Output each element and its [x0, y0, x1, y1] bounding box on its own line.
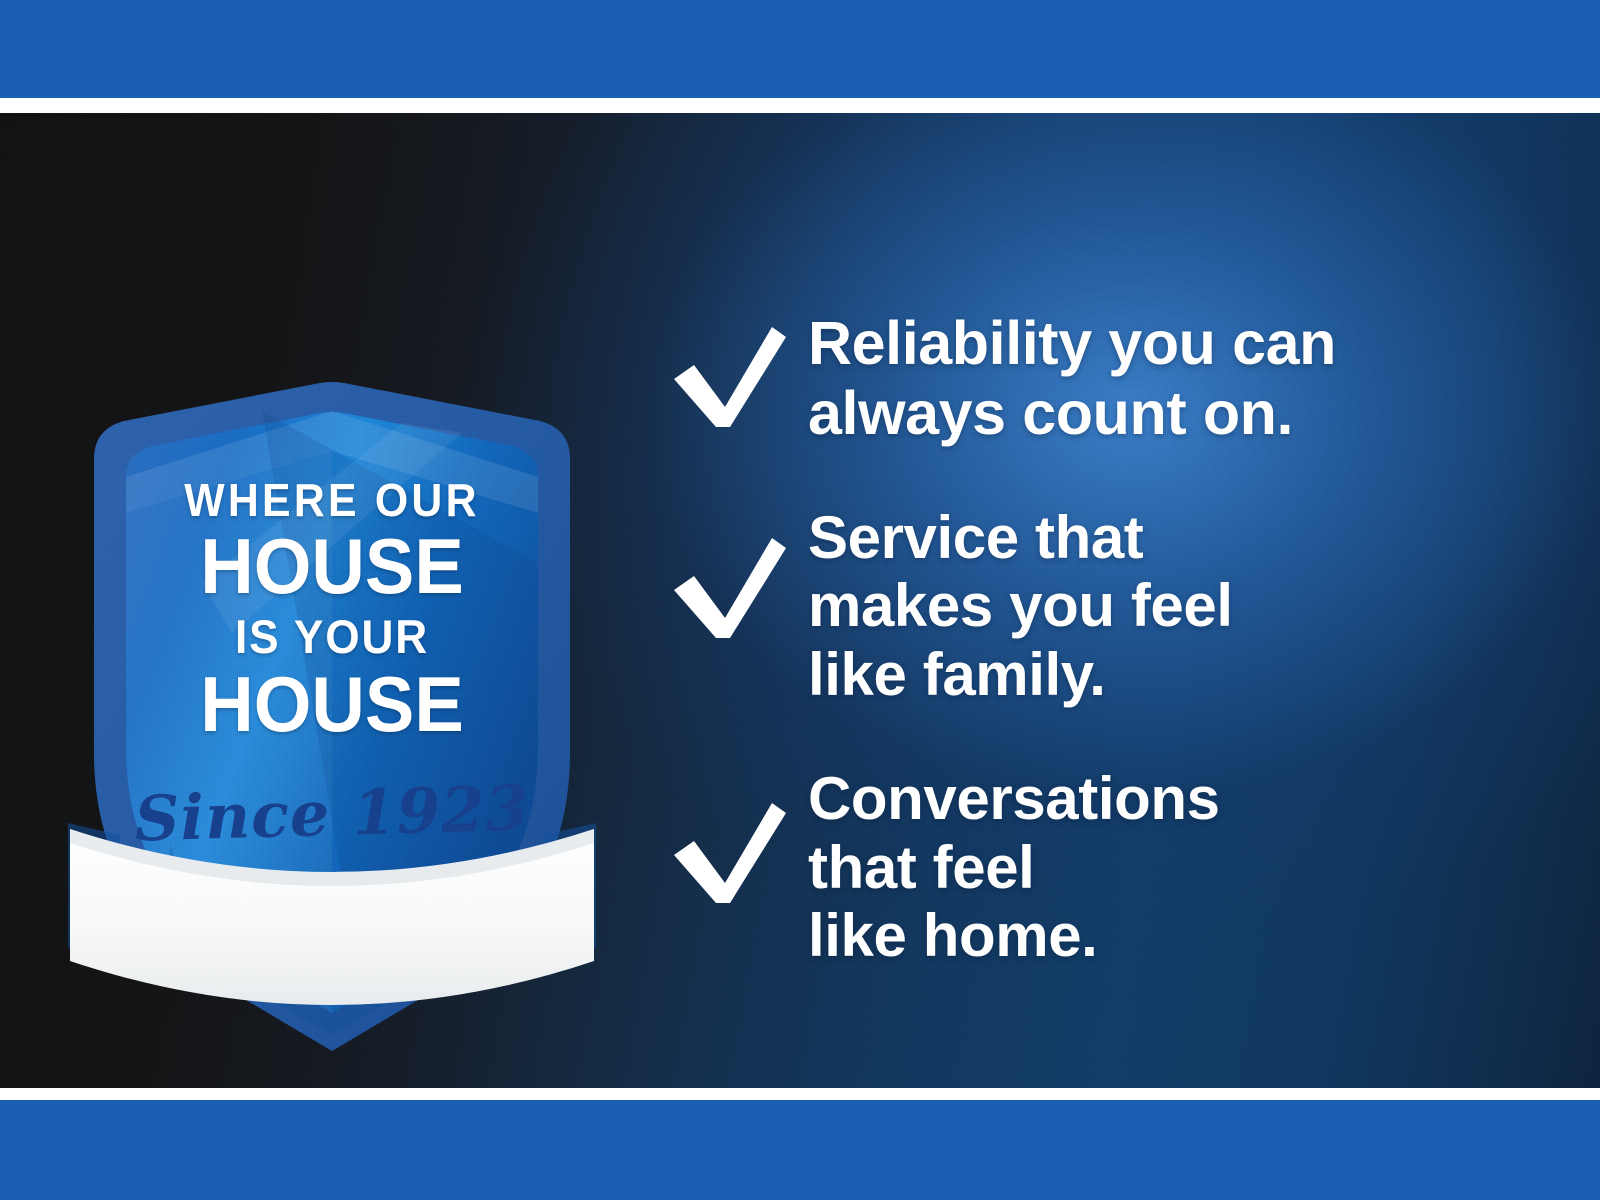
list-item: Service that makes you feel like family.	[668, 504, 1548, 709]
checkmark-icon	[668, 309, 808, 436]
shield-badge: WHERE OUR HOUSE IS YOUR HOUSE Since 1923	[62, 283, 602, 1063]
top-brand-bar	[0, 0, 1600, 98]
list-item-text: Reliability you can always count on.	[808, 309, 1548, 448]
list-item-line: makes you feel	[808, 572, 1548, 640]
bottom-brand-bar	[0, 1100, 1600, 1200]
list-item-line: like family.	[808, 641, 1548, 709]
list-item-text: Conversations that feel like home.	[808, 765, 1548, 970]
checkmark-icon	[668, 765, 808, 912]
list-item-line: like home.	[808, 902, 1548, 970]
checkmark-icon	[668, 504, 808, 647]
benefits-list: Reliability you can always count on. Ser…	[668, 309, 1548, 970]
list-item: Conversations that feel like home.	[668, 765, 1548, 970]
badge-line-house-2: HOUSE	[76, 665, 589, 743]
list-item: Reliability you can always count on.	[668, 309, 1548, 448]
list-item-text: Service that makes you feel like family.	[808, 504, 1548, 709]
badge-line-is-your: IS YOUR	[78, 613, 586, 660]
main-panel: WHERE OUR HOUSE IS YOUR HOUSE Since 1923…	[0, 113, 1600, 1088]
badge-line-where-our: WHERE OUR	[81, 477, 583, 523]
list-item-line: that feel	[808, 834, 1548, 902]
list-item-line: always count on.	[808, 379, 1548, 449]
list-item-line: Conversations	[808, 765, 1548, 833]
badge-line-house-1: HOUSE	[76, 527, 589, 605]
promo-graphic: WHERE OUR HOUSE IS YOUR HOUSE Since 1923…	[0, 0, 1600, 1200]
list-item-line: Reliability you can	[808, 309, 1548, 379]
badge-since-text: Since 1923	[61, 769, 603, 857]
list-item-line: Service that	[808, 504, 1548, 572]
